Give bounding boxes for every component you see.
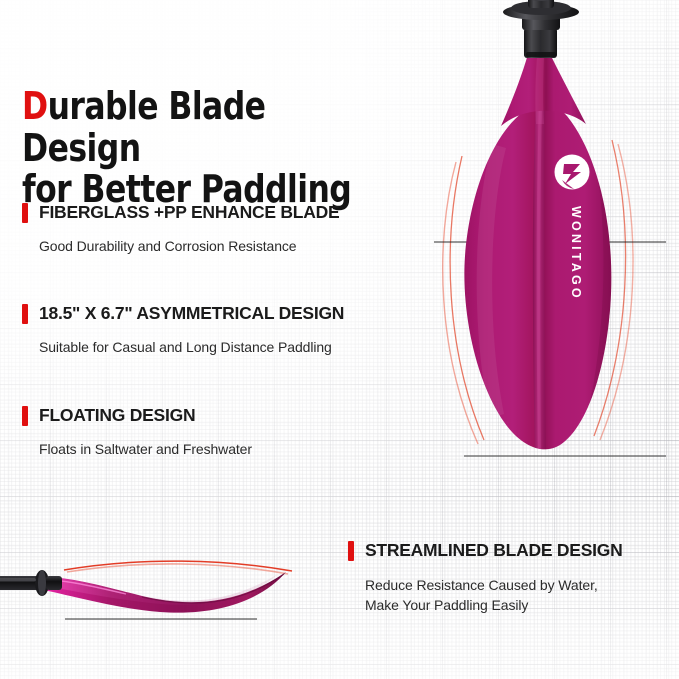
paddle-shaft-ferrule xyxy=(503,0,579,58)
title-drop-cap: D xyxy=(22,84,48,128)
side-blade-body xyxy=(34,572,286,613)
page-title: Durable Blade Designfor Better Paddling xyxy=(22,44,390,211)
brand-wordmark: WONITAGO xyxy=(569,206,583,301)
feature-item-asymmetrical: 18.5" X 6.7" ASYMMETRICAL DESIGN Suitabl… xyxy=(22,303,422,357)
feature-title: STREAMLINED BLADE DESIGN xyxy=(365,540,622,561)
feature-heading-row: 18.5" X 6.7" ASYMMETRICAL DESIGN xyxy=(22,303,422,324)
feature-item-fiberglass: FIBERGLASS +PP ENHANCE BLADE Good Durabi… xyxy=(22,202,422,256)
feature-heading-row: STREAMLINED BLADE DESIGN xyxy=(348,540,678,561)
feature-title: FLOATING DESIGN xyxy=(39,405,195,426)
feature-heading-row: FIBERGLASS +PP ENHANCE BLADE xyxy=(22,202,422,223)
bullet-bar-icon xyxy=(22,304,28,324)
title-line-1-rest: urable Blade Design xyxy=(22,84,265,170)
feature-subtitle: Reduce Resistance Caused by Water, Make … xyxy=(365,575,678,616)
feature-title: 18.5" X 6.7" ASYMMETRICAL DESIGN xyxy=(39,303,344,324)
feature-subtitle: Suitable for Casual and Long Distance Pa… xyxy=(39,337,422,357)
bullet-bar-icon xyxy=(22,406,28,426)
feature-title: FIBERGLASS +PP ENHANCE BLADE xyxy=(39,202,339,223)
blade-throat xyxy=(501,54,586,126)
bullet-bar-icon xyxy=(22,203,28,223)
infographic-page: Durable Blade Designfor Better Paddling … xyxy=(0,0,679,679)
feature-item-streamlined: STREAMLINED BLADE DESIGN Reduce Resistan… xyxy=(348,540,678,616)
feature-subtitle: Floats in Saltwater and Freshwater xyxy=(39,439,422,459)
side-outline-guides xyxy=(64,561,292,574)
paddle-blade-side-view xyxy=(0,524,352,664)
feature-item-floating: FLOATING DESIGN Floats in Saltwater and … xyxy=(22,405,422,459)
paddle-blade-front-view: WONITAGO xyxy=(404,0,679,474)
blade-body xyxy=(464,104,618,456)
wonitago-bolt-logo xyxy=(555,155,590,190)
side-paddle-shaft xyxy=(0,570,62,596)
feature-heading-row: FLOATING DESIGN xyxy=(22,405,422,426)
feature-subtitle: Good Durability and Corrosion Resistance xyxy=(39,236,422,256)
